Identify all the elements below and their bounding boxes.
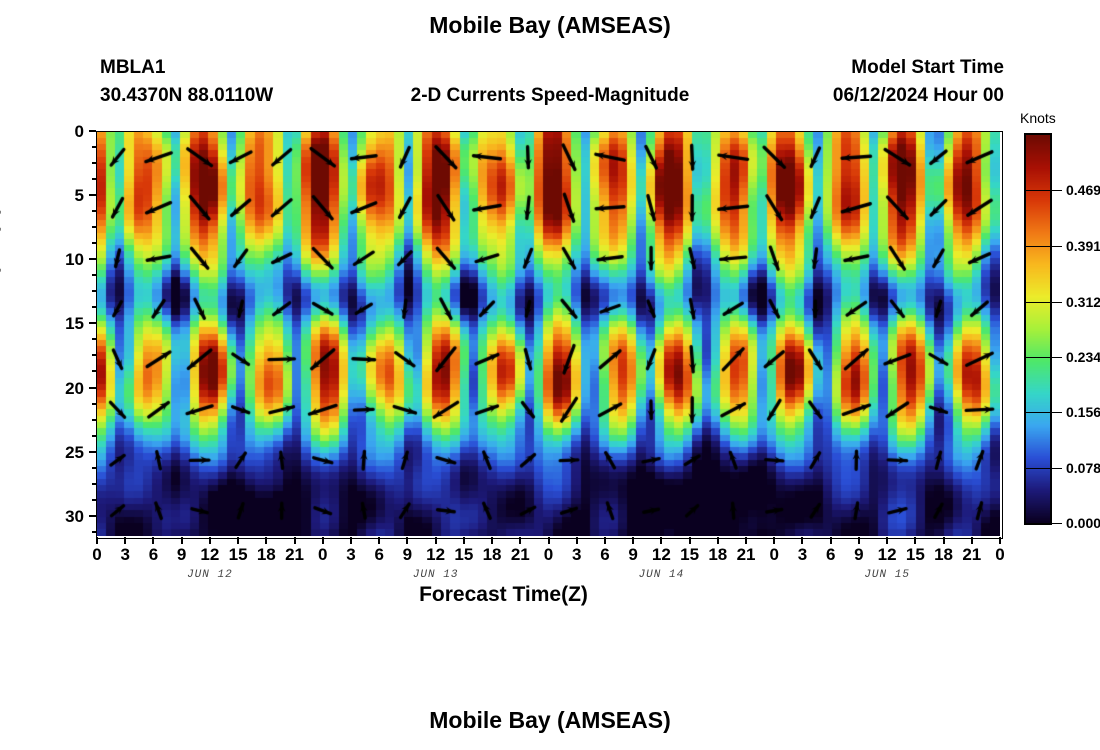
colorbar-tick-inner <box>1026 468 1050 469</box>
y-axis-minor-tick <box>92 178 96 180</box>
x-axis-tick <box>406 537 408 544</box>
x-axis-tick <box>96 537 98 544</box>
x-axis-tick-label: 6 <box>149 545 158 565</box>
y-axis-tick <box>89 322 96 324</box>
colorbar-tick-inner <box>1026 412 1050 413</box>
y-axis: 051015202530 <box>50 131 96 537</box>
x-axis-tick <box>745 537 747 544</box>
x-axis-tick <box>999 537 1001 544</box>
x-axis-tick-label: 15 <box>680 545 699 565</box>
x-axis-tick <box>435 537 437 544</box>
y-axis-minor-tick <box>92 354 96 356</box>
y-axis-minor-tick <box>92 419 96 421</box>
y-axis-minor-tick <box>92 467 96 469</box>
x-axis-tick-label: 21 <box>962 545 981 565</box>
y-axis-minor-tick <box>92 290 96 292</box>
x-axis-tick <box>548 537 550 544</box>
y-axis-minor-tick <box>92 242 96 244</box>
colorbar-title: Knots <box>1020 110 1056 126</box>
x-axis-tick-label: 15 <box>906 545 925 565</box>
y-axis-minor-tick <box>92 499 96 501</box>
x-axis-tick <box>265 537 267 544</box>
colorbar-tick <box>1052 190 1062 191</box>
x-axis-tick-label: 12 <box>652 545 671 565</box>
x-axis-title: Forecast Time(Z) <box>0 583 1007 607</box>
x-axis-tick-label: 6 <box>826 545 835 565</box>
colorbar-tick-label: 0.000 <box>1066 515 1100 531</box>
y-axis-minor-tick <box>92 146 96 148</box>
x-axis-tick-label: 12 <box>200 545 219 565</box>
x-axis-tick <box>237 537 239 544</box>
x-axis-tick-label: 18 <box>934 545 953 565</box>
x-axis-tick <box>350 537 352 544</box>
x-axis-tick <box>152 537 154 544</box>
x-axis-tick <box>604 537 606 544</box>
y-axis-tick <box>89 451 96 453</box>
y-axis-minor-tick <box>92 435 96 437</box>
x-axis-tick <box>576 537 578 544</box>
x-axis-tick <box>660 537 662 544</box>
x-axis-tick-label: 18 <box>708 545 727 565</box>
y-axis-minor-tick <box>92 338 96 340</box>
x-axis-tick <box>294 537 296 544</box>
colorbar-tick <box>1052 523 1062 524</box>
x-axis-tick-label: 21 <box>511 545 530 565</box>
x-axis-tick-label: 21 <box>285 545 304 565</box>
x-axis-tick <box>322 537 324 544</box>
x-axis-tick <box>858 537 860 544</box>
current-vector-field <box>97 132 1000 536</box>
colorbar-tick-label: 0.234 <box>1066 349 1100 365</box>
x-axis-tick <box>914 537 916 544</box>
x-axis-tick-label: 18 <box>257 545 276 565</box>
x-axis-tick-label: 0 <box>318 545 327 565</box>
colorbar-tick-inner <box>1026 523 1050 524</box>
y-axis-minor-tick <box>92 162 96 164</box>
x-axis-tick-label: 0 <box>770 545 779 565</box>
colorbar-tick <box>1052 357 1062 358</box>
x-axis-tick <box>463 537 465 544</box>
colorbar-tick-label: 0.469 <box>1066 182 1100 198</box>
y-axis-tick-label: 15 <box>50 314 84 334</box>
x-axis-tick <box>181 537 183 544</box>
x-axis-tick-label: 3 <box>572 545 581 565</box>
y-axis-minor-tick <box>92 403 96 405</box>
x-axis-tick-label: 12 <box>426 545 445 565</box>
x-axis-tick-label: 3 <box>346 545 355 565</box>
x-axis-tick-label: 9 <box>628 545 637 565</box>
y-axis-minor-tick <box>92 210 96 212</box>
x-axis-tick-label: 3 <box>120 545 129 565</box>
x-axis-day-label: JUN 15 <box>864 569 910 581</box>
colorbar-tick <box>1052 412 1062 413</box>
colorbar-tick-inner <box>1026 357 1050 358</box>
y-axis-tick-label: 25 <box>50 443 84 463</box>
x-axis-tick-label: 9 <box>403 545 412 565</box>
y-axis-minor-tick <box>92 531 96 533</box>
x-axis-tick-label: 12 <box>878 545 897 565</box>
colorbar-tick-label: 0.312 <box>1066 294 1100 310</box>
colorbar-tick <box>1052 302 1062 303</box>
y-axis-minor-tick <box>92 274 96 276</box>
colorbar-tick-label: 0.391 <box>1066 238 1100 254</box>
colorbar-gradient <box>1026 135 1050 523</box>
y-axis-tick <box>89 130 96 132</box>
y-axis-tick <box>89 387 96 389</box>
colorbar-tick <box>1052 246 1062 247</box>
x-axis-tick-label: 6 <box>600 545 609 565</box>
x-axis-tick-label: 9 <box>177 545 186 565</box>
x-axis-tick <box>209 537 211 544</box>
x-axis-tick-label: 9 <box>854 545 863 565</box>
colorbar-tick-inner <box>1026 190 1050 191</box>
x-axis-tick-label: 0 <box>995 545 1004 565</box>
y-axis-tick-label: 10 <box>50 250 84 270</box>
x-axis-tick-label: 18 <box>483 545 502 565</box>
x-axis-day-label: JUN 14 <box>639 569 685 581</box>
x-axis-tick <box>773 537 775 544</box>
colorbar-tick-inner <box>1026 246 1050 247</box>
y-axis-tick-label: 20 <box>50 379 84 399</box>
y-axis-tick <box>89 194 96 196</box>
x-axis-tick <box>378 537 380 544</box>
x-axis-tick <box>943 537 945 544</box>
x-axis-tick-label: 3 <box>798 545 807 565</box>
y-axis-title: Depth (ft) <box>0 207 2 300</box>
x-axis-tick <box>519 537 521 544</box>
y-axis-minor-tick <box>92 483 96 485</box>
page-title: Mobile Bay (AMSEAS) <box>0 12 1100 39</box>
x-axis-tick-label: 15 <box>229 545 248 565</box>
x-axis-tick <box>971 537 973 544</box>
x-axis-tick-label: 6 <box>374 545 383 565</box>
x-axis-tick <box>491 537 493 544</box>
colorbar-tick-inner <box>1026 302 1050 303</box>
x-axis-tick <box>124 537 126 544</box>
x-axis-day-label: JUN 12 <box>187 569 233 581</box>
x-axis-tick <box>830 537 832 544</box>
x-axis-tick <box>801 537 803 544</box>
y-axis-minor-tick <box>92 306 96 308</box>
y-axis-tick <box>89 515 96 517</box>
y-axis-tick-label: 30 <box>50 507 84 527</box>
station-id-label: MBLA1 <box>100 57 165 79</box>
y-axis-tick-label: 0 <box>50 122 84 142</box>
x-axis-tick-label: 0 <box>92 545 101 565</box>
x-axis-tick <box>886 537 888 544</box>
y-axis-tick <box>89 258 96 260</box>
x-axis-day-label: JUN 13 <box>413 569 459 581</box>
x-axis-tick-label: 0 <box>544 545 553 565</box>
colorbar-tick-label: 0.078 <box>1066 460 1100 476</box>
model-start-time-value: 06/12/2024 Hour 00 <box>833 85 1004 107</box>
x-axis-tick <box>717 537 719 544</box>
x-axis-tick-label: 15 <box>454 545 473 565</box>
bottom-title: Mobile Bay (AMSEAS) <box>0 707 1100 734</box>
model-start-time-label: Model Start Time <box>851 57 1004 79</box>
colorbar-tick-label: 0.156 <box>1066 404 1100 420</box>
y-axis-minor-tick <box>92 226 96 228</box>
x-axis-tick <box>689 537 691 544</box>
x-axis-tick-label: 21 <box>737 545 756 565</box>
y-axis-tick-label: 5 <box>50 186 84 206</box>
colorbar-tick <box>1052 468 1062 469</box>
x-axis-tick <box>632 537 634 544</box>
y-axis-minor-tick <box>92 370 96 372</box>
